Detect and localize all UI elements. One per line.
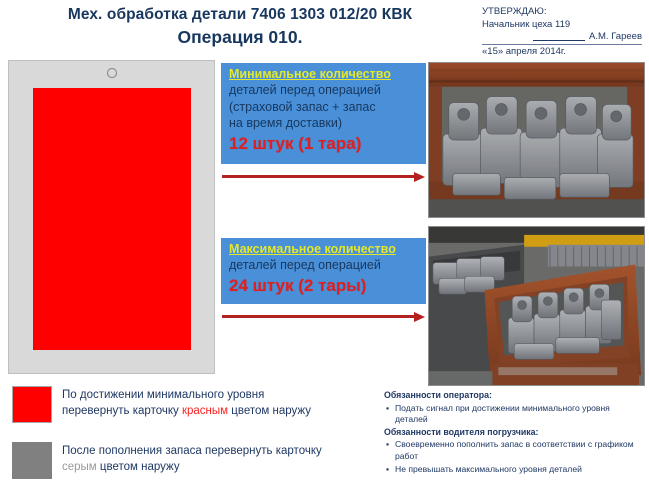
legend-red-highlight: красным: [182, 405, 228, 417]
bullet-icon: ▪: [386, 439, 389, 451]
approval-block: УТВЕРЖДАЮ: Начальник цеха 119 А.М. Гарее…: [482, 6, 642, 58]
minimum-panel-body-line-1: деталей перед операцией: [229, 83, 420, 99]
approval-date: «15» апреля 2014г.: [482, 44, 642, 59]
arrow-shaft: [222, 315, 415, 318]
arrow-head-icon: [414, 172, 425, 182]
arrow-to-min-photo: [222, 170, 425, 184]
page-header: Мех. обработка детали 7406 1303 012/20 К…: [0, 0, 649, 56]
photo-single-crate: [428, 62, 645, 218]
title-line-1: Мех. обработка детали 7406 1303 012/20 К…: [14, 6, 466, 24]
legend-swatch-red: [12, 386, 52, 423]
legend-swatch-gray: [12, 442, 52, 479]
legend-text-gray: После пополнения запаса перевернуть карт…: [62, 444, 380, 475]
driver-duty-item: ▪Своевременно пополнить запас в соответс…: [384, 439, 642, 462]
maximum-quantity-panel: Максимальное количество деталей перед оп…: [221, 238, 426, 304]
maximum-panel-heading: Максимальное количество: [229, 242, 420, 257]
legend-red-line-2-before: перевернуть карточку: [62, 405, 182, 417]
arrow-shaft: [222, 175, 415, 178]
legend-red-line-1: По достижении минимального уровня: [62, 388, 380, 404]
photo-single-crate-graphic: [429, 63, 644, 217]
minimum-quantity-value: 12 штук (1 тара): [229, 134, 420, 154]
arrow-to-max-photo: [222, 310, 425, 324]
bullet-icon: ▪: [386, 464, 389, 476]
minimum-panel-heading: Минимальное количество: [229, 67, 420, 82]
photo-two-crates: [428, 226, 645, 386]
legend-gray-line-1: После пополнения запаса перевернуть карт…: [62, 444, 380, 460]
title-line-2: Операция 010.: [14, 27, 466, 48]
approval-name: А.М. Гареев: [589, 31, 642, 42]
minimum-panel-body-line-3: на время доставки): [229, 116, 420, 132]
duties-block: Обязанности оператора: ▪Подать сигнал пр…: [384, 389, 642, 475]
operator-duties-heading: Обязанности оператора:: [384, 390, 642, 402]
legend-gray-highlight: серым: [62, 461, 97, 473]
driver-duty-text-1: Своевременно пополнить запас в соответст…: [395, 439, 634, 461]
legend-gray-line-2: серым цветом наружу: [62, 460, 380, 476]
maximum-panel-body-line-1: деталей перед операцией: [229, 258, 420, 274]
placard-red-face: [33, 88, 191, 350]
legend-gray-line-2-after: цветом наружу: [97, 461, 180, 473]
punch-hole-icon: [107, 68, 117, 78]
legend-red-line-2: перевернуть карточку красным цветом нару…: [62, 404, 380, 420]
operator-duty-item: ▪Подать сигнал при достижении минимально…: [384, 403, 642, 426]
legend-red-line-2-after: цветом наружу: [228, 405, 311, 417]
legend-text-red: По достижении минимального уровня переве…: [62, 388, 380, 419]
photo-two-crates-graphic: [429, 227, 644, 385]
maximum-quantity-value: 24 штук (2 тары): [229, 276, 420, 296]
operator-duty-text: Подать сигнал при достижении минимальног…: [395, 403, 610, 425]
driver-duty-item: ▪Не превышать максимального уровня детал…: [384, 464, 642, 476]
approval-label: УТВЕРЖДАЮ:: [482, 6, 642, 19]
minimum-quantity-panel: Минимальное количество деталей перед опе…: [221, 63, 426, 164]
bullet-icon: ▪: [386, 403, 389, 415]
driver-duty-text-2: Не превышать максимального уровня детале…: [395, 464, 582, 474]
signature-line: [533, 32, 585, 41]
minimum-panel-body-line-2: (страховой запас + запас: [229, 100, 420, 116]
approval-signature-row: А.М. Гареев: [482, 31, 642, 44]
driver-duties-heading: Обязанности водителя погрузчика:: [384, 427, 642, 439]
approval-position: Начальник цеха 119: [482, 19, 642, 32]
page-title: Мех. обработка детали 7406 1303 012/20 К…: [14, 6, 466, 48]
kanban-card-placard[interactable]: [8, 60, 215, 374]
arrow-head-icon: [414, 312, 425, 322]
